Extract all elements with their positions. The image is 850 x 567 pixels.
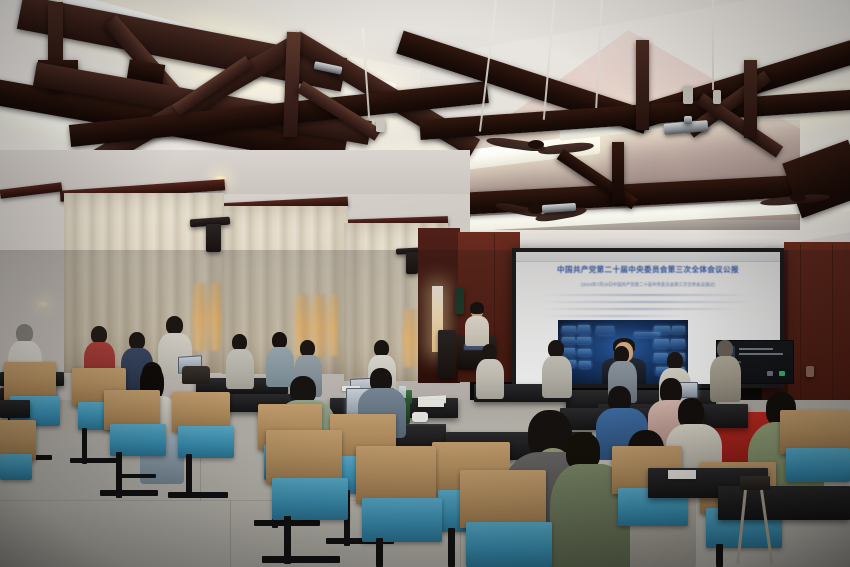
video-backdrop-tile-2 xyxy=(578,325,590,334)
monitor-status-dot-grey xyxy=(767,371,773,376)
video-backdrop-tile-11 xyxy=(672,326,685,334)
left-wall-upper-band xyxy=(0,150,470,194)
handbag-row4 xyxy=(182,366,210,384)
video-backdrop-tile-12 xyxy=(654,339,669,348)
floor-speaker-stage xyxy=(438,330,456,378)
document-body-line-4 xyxy=(542,315,692,317)
truss-kingpost-right xyxy=(636,40,649,130)
ceiling-projector-mount xyxy=(684,116,692,124)
front-wall-seam-1 xyxy=(800,244,801,420)
chair-right-c-seat xyxy=(786,448,850,482)
monitor-status-dot-green xyxy=(779,371,785,376)
presenter-torso xyxy=(465,316,489,346)
chair-aisle-right-back xyxy=(460,470,546,528)
ceiling-junction-box-3 xyxy=(713,90,721,104)
desk-foreground-far-left xyxy=(0,400,30,418)
camera-on-desk xyxy=(740,476,770,490)
presenter-hair xyxy=(470,302,484,314)
front-wall-seam-2 xyxy=(832,244,833,420)
document-body-line-2 xyxy=(542,301,754,303)
lecture-hall-photograph: 中国共产党第二十届中央委员会第三次全体会议公报 (2024年7月18日中国共产党… xyxy=(0,0,850,567)
desk-foreground-right2 xyxy=(718,486,850,520)
hanger-rod-5 xyxy=(712,0,714,90)
video-backdrop-tile-3 xyxy=(562,337,575,344)
chair-foreground-mid-seat xyxy=(362,498,442,542)
video-backdrop-tile-14 xyxy=(654,353,668,362)
document-heading: 中国共产党第二十届中央委员会第三次全体会议公报 xyxy=(516,265,780,274)
chair-row3-b-foot xyxy=(70,458,122,463)
chair-foreground-mid-legs xyxy=(376,538,383,567)
wall-speaker-right xyxy=(406,252,418,274)
chair-row3-a-back xyxy=(4,362,56,400)
video-backdrop-tile-9 xyxy=(596,326,614,335)
monitor-text-line-2 xyxy=(739,353,783,355)
video-backdrop-tile-1 xyxy=(562,326,576,334)
chair-aisle-right-seat xyxy=(466,522,552,567)
chair-foreground-left-back xyxy=(266,430,342,484)
truss-post-right-vertical xyxy=(744,60,757,138)
video-backdrop-tile-5 xyxy=(563,348,575,356)
ceiling-junction-box-2 xyxy=(683,86,693,104)
recessed-downlight-3 xyxy=(36,300,50,308)
attendee-back-5-body xyxy=(226,349,254,389)
chair-bottom-left-sliver-seat xyxy=(0,454,32,480)
chair-row3-c-foot xyxy=(100,490,158,496)
front-wall-panel-right xyxy=(784,242,850,422)
papers-foreground-right xyxy=(668,470,696,479)
chair-row3-c-crossbar xyxy=(116,474,156,478)
chair-row2-c-legs xyxy=(448,528,455,567)
chair-right-b-legs xyxy=(716,544,723,567)
document-subheading: (2024年7月18日中国共产党第二十届中央委员会第三次全体会议通过) xyxy=(516,282,780,288)
papers-center xyxy=(418,400,444,407)
ceiling-fan-1-hub xyxy=(528,140,544,149)
chair-foreground-left-foot xyxy=(262,556,340,563)
video-backdrop-tile-13 xyxy=(671,339,685,348)
video-backdrop-banner xyxy=(634,332,660,337)
wall-speaker-left xyxy=(206,224,221,252)
attendee-back-6-body xyxy=(266,347,294,387)
video-backdrop-tile-8 xyxy=(579,361,591,368)
chair-foreground-left-seat xyxy=(272,478,348,520)
monitor-text-line-1 xyxy=(739,348,773,350)
video-backdrop-tile-6 xyxy=(578,349,591,356)
attendee-back-9-body xyxy=(476,359,504,399)
attendee-back-11-body xyxy=(710,356,741,402)
chair-far-left-foot xyxy=(168,492,228,498)
document-toolbar xyxy=(516,252,780,262)
document-body-line-1 xyxy=(542,294,754,296)
wall-outlet-plate xyxy=(806,366,814,377)
document-body-line-3 xyxy=(542,308,738,310)
truss-post-right-lower xyxy=(612,142,624,204)
attendee-back-10-body xyxy=(542,356,572,398)
video-backdrop-tile-4 xyxy=(577,337,591,344)
floor-tile-seam-3 xyxy=(0,500,231,567)
tissue-center xyxy=(412,412,428,422)
ceiling-fan-3-hub xyxy=(790,193,806,202)
front-wall-control-panel xyxy=(455,288,464,314)
chair-foreground-mid-back xyxy=(356,446,436,504)
ceiling-junction-box-1 xyxy=(376,118,385,132)
